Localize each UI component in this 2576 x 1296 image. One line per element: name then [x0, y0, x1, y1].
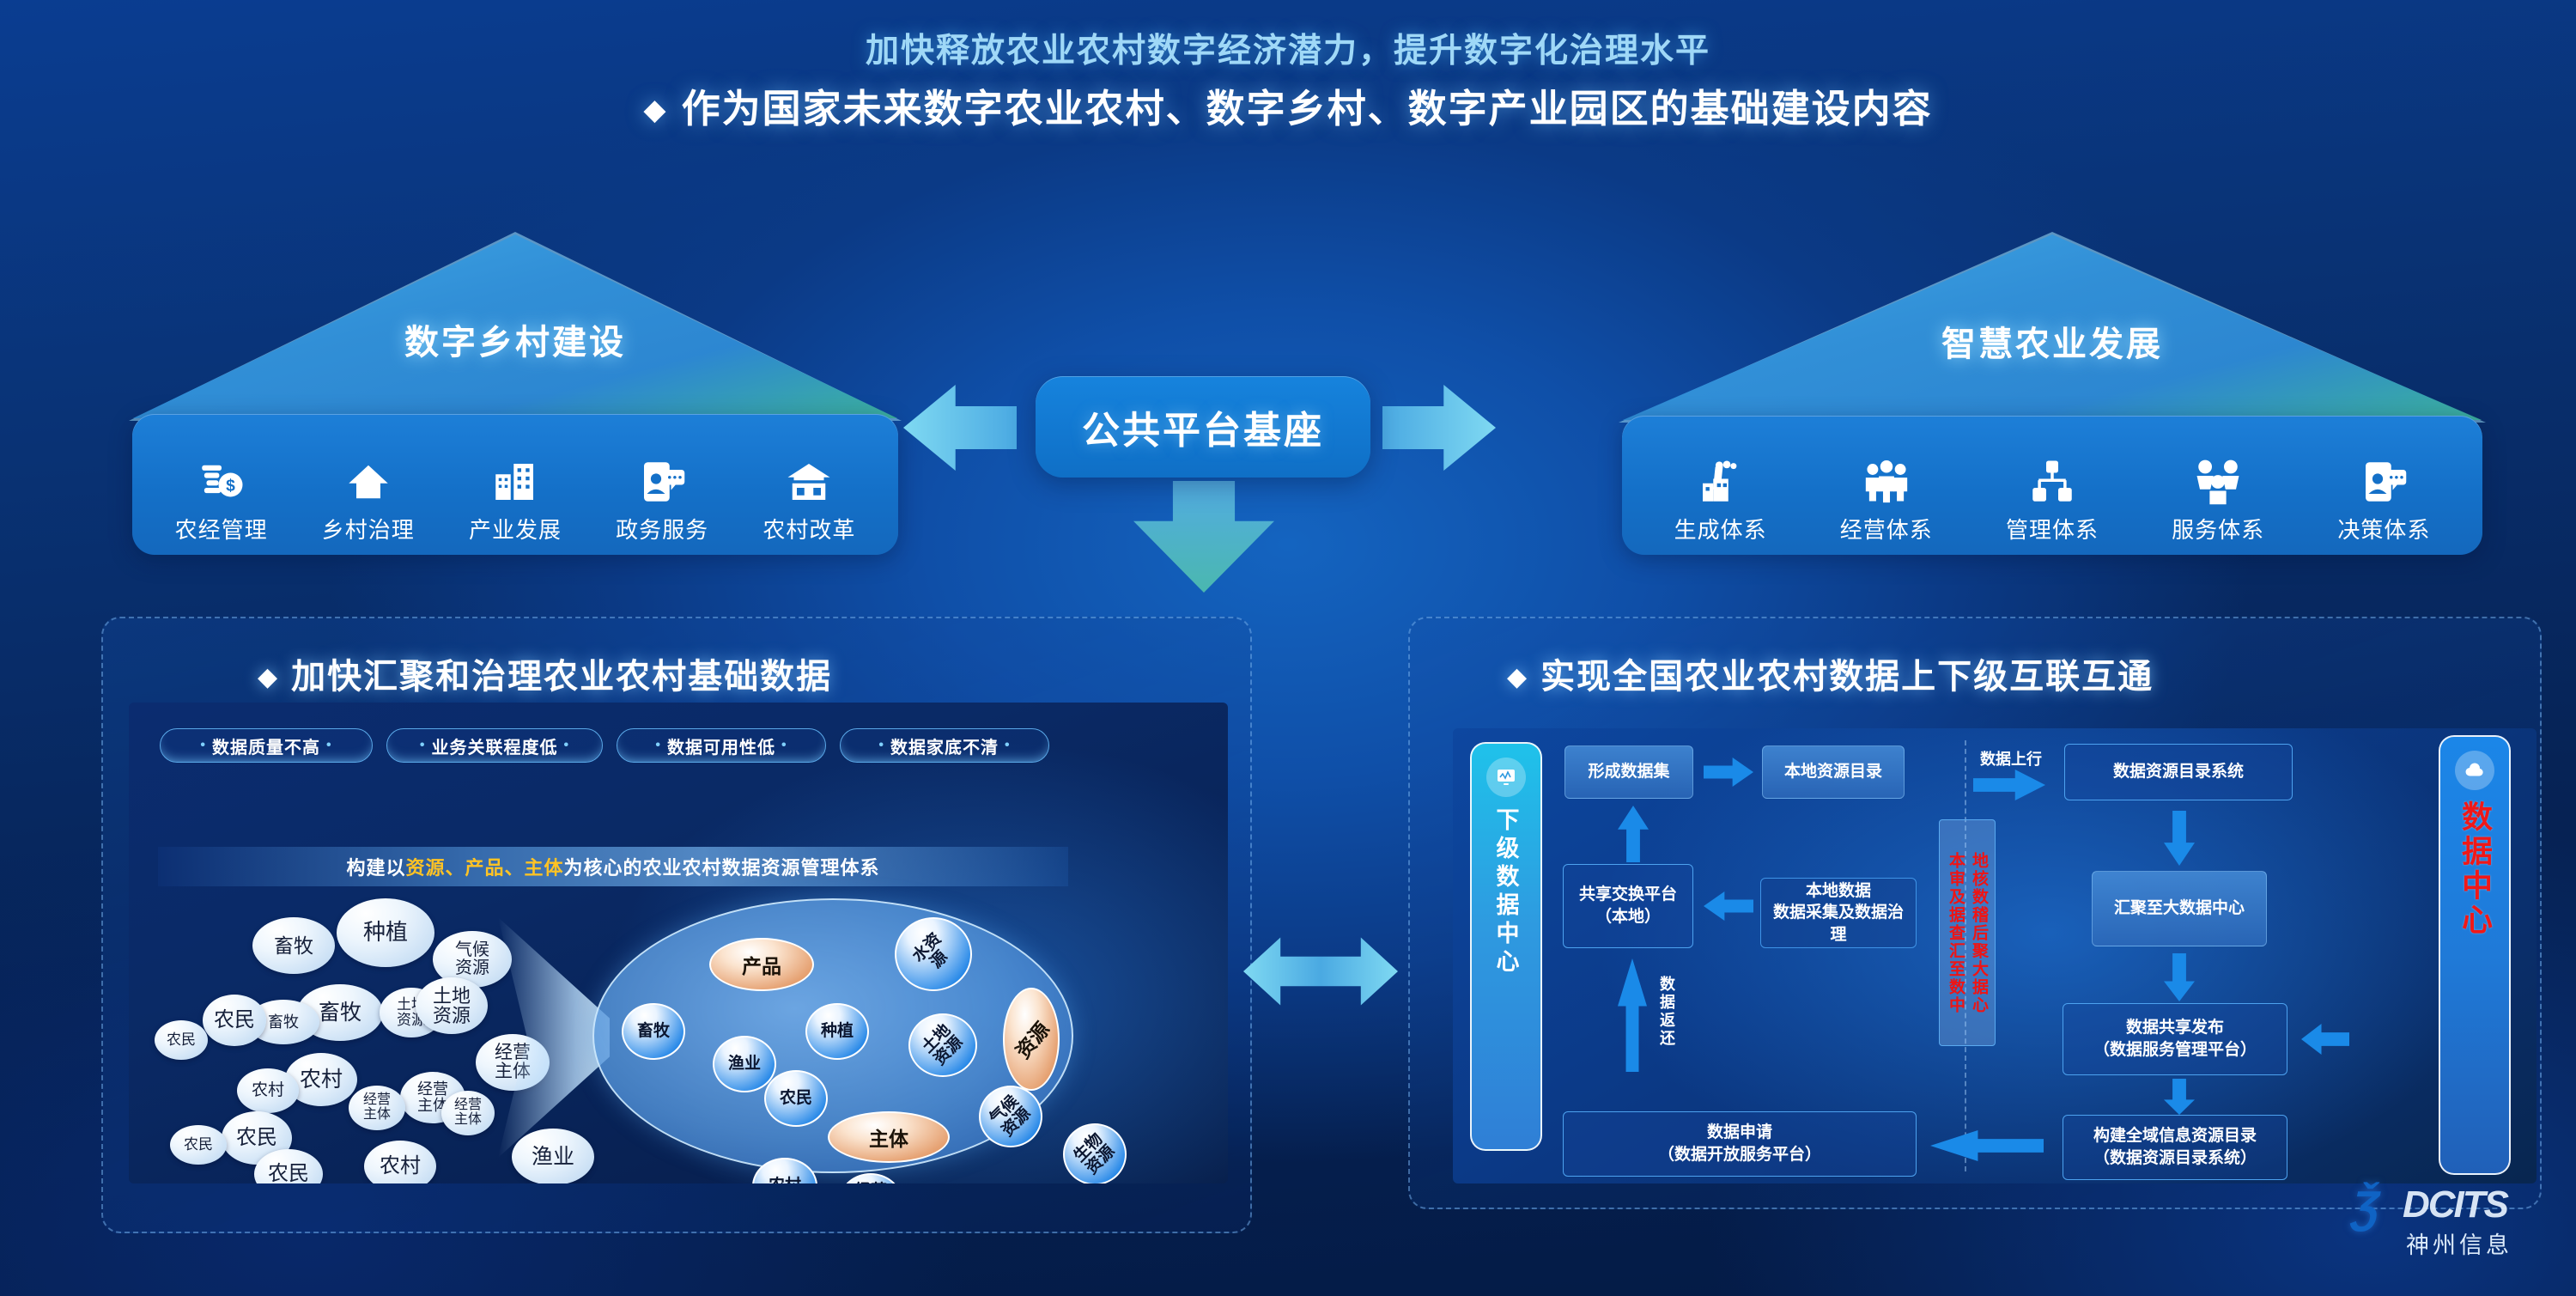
bidirectional-arrow-icon [1243, 934, 1398, 1008]
factory-icon [1658, 449, 1783, 506]
barn-icon [746, 449, 872, 506]
right-item-label-0: 生成体系 [1658, 513, 1783, 545]
pill-dot-icon: • [655, 738, 661, 753]
diamond-bullet-icon: ◆ [258, 663, 279, 691]
issue-pill-label-1: 业务关联程度低 [432, 733, 558, 758]
right-item-2[interactable]: 管理体系 [1990, 449, 2115, 545]
box-aggregate-bigdata-center[interactable]: 汇聚至大数据中心 [2092, 871, 2267, 946]
right-flowchart: 下级数据中心 数据中心 形成数据集 本地资源目录 数据上行 数据资源目录系统 共… [1453, 728, 2537, 1183]
monitor-chart-icon [1486, 758, 1526, 797]
platform-base-card[interactable]: 公共平台基座 [1036, 376, 1370, 478]
diamond-bullet-icon: ◆ [1507, 663, 1528, 691]
left-item-label-3: 政务服务 [599, 513, 725, 545]
logo-chinese-name: 神州信息 [2406, 1226, 2512, 1260]
right-item-1[interactable]: 经营体系 [1824, 449, 1949, 545]
box-local-data-collection[interactable]: 本地数据 数据采集及数据治理 [1760, 878, 1917, 948]
left-house-title: 数字乡村建设 [129, 314, 902, 364]
messy-node: 农民 [155, 1020, 208, 1060]
box-resource-catalog-system[interactable]: 数据资源目录系统 [2064, 744, 2293, 800]
messy-node: 土地资源 [416, 977, 488, 1034]
red-note-box: 地核数稽后聚大据心 本审及据查汇至数中 [1939, 819, 1996, 1046]
bottom-left-heading-text: 加快汇聚和治理农业农村基础数据 [291, 658, 832, 696]
pill-dot-icon: • [878, 738, 884, 753]
left-item-0[interactable]: $ 农经管理 [159, 449, 284, 545]
arrow-left-icon [1704, 891, 1753, 921]
right-item-label-1: 经营体系 [1824, 513, 1949, 545]
left-item-label-0: 农经管理 [159, 513, 284, 545]
page-subtitle: ◆作为国家未来数字农业农村、数字乡村、数字产业园区的基础建设内容 [0, 77, 2576, 133]
right-house-group: 智慧农业发展 生成体系 经营体系 管理体系 服务体系 决策体系 [1619, 232, 2486, 575]
right-item-label-3: 服务体系 [2155, 513, 2281, 545]
issue-pill-1[interactable]: •业务关联程度低• [386, 728, 603, 763]
buildings-icon [453, 449, 578, 506]
arrow-right-icon [1973, 770, 2045, 800]
sidebar-data-center-label: 数据中心 [2452, 800, 2497, 938]
category-node: 经营主体 [840, 1173, 902, 1183]
category-node: 畜牧 [622, 1003, 685, 1060]
brand-logo: Ǯ DCITS 神州信息 [2353, 1178, 2550, 1273]
messy-node: 经营主体 [441, 1091, 495, 1135]
pill-dot-icon: • [326, 738, 332, 753]
diamond-bullet-icon: ◆ [643, 94, 667, 126]
right-house-base: 生成体系 经营体系 管理体系 服务体系 决策体系 [1622, 416, 2482, 555]
node-label: 资源 [1007, 1014, 1055, 1063]
right-item-label-4: 决策体系 [2321, 513, 2446, 545]
pill-dot-icon: • [420, 738, 426, 753]
mobile-service-icon [599, 449, 725, 506]
category-node: 土地资源 [908, 1013, 977, 1077]
left-item-2[interactable]: 产业发展 [453, 449, 578, 545]
messy-node: 畜牧 [252, 917, 335, 974]
category-node: 种植 [805, 1003, 869, 1060]
node-label: 水资源 [909, 930, 957, 977]
right-house-title: 智慧农业发展 [1619, 316, 2486, 366]
bottom-right-heading-text: 实现全国农业农村数据上下级互联互通 [1540, 658, 2154, 696]
node-label: 畜牧 [637, 1023, 670, 1040]
box-share-exchange-platform[interactable]: 共享交换平台 （本地） [1563, 864, 1693, 948]
messy-node: 农民 [170, 1125, 227, 1165]
core-node: 资源 [1003, 988, 1060, 1091]
issue-pill-label-3: 数据家底不清 [890, 733, 999, 758]
arrow-left-icon [1930, 1130, 2044, 1161]
core-banner-post: 为核心的农业农村数据资源管理体系 [564, 853, 880, 880]
arrow-left-icon [2301, 1024, 2349, 1055]
node-label: 经营主体 [854, 1183, 887, 1183]
messy-node: 农民 [203, 995, 266, 1046]
node-label: 渔业 [728, 1056, 761, 1073]
core-node: 产品 [709, 938, 814, 991]
arrow-down-icon [2164, 811, 2195, 866]
issue-pill-label-2: 数据可用性低 [667, 733, 775, 758]
node-label: 农民 [780, 1090, 812, 1107]
box-form-dataset[interactable]: 形成数据集 [1564, 745, 1693, 799]
arrow-down-icon [1133, 481, 1274, 593]
messy-node: 农村 [364, 1141, 436, 1183]
pill-dot-icon: • [564, 738, 570, 753]
right-item-3[interactable]: 服务体系 [2155, 449, 2281, 545]
svg-text:$: $ [226, 478, 235, 496]
node-label: 生物资源 [1071, 1130, 1118, 1177]
left-item-label-1: 乡村治理 [306, 513, 431, 545]
sidebar-lower-label: 下级数据中心 [1490, 807, 1523, 977]
cloud-icon [2455, 751, 2494, 790]
issue-pill-2[interactable]: •数据可用性低• [617, 728, 826, 763]
node-label: 土地资源 [919, 1021, 966, 1068]
node-label: 种植 [821, 1023, 854, 1040]
box-build-global-catalog[interactable]: 构建全域信息资源目录 （数据资源目录系统） [2063, 1115, 2287, 1180]
core-banner-pre: 构建以 [346, 853, 405, 880]
messy-node: 经营主体 [349, 1086, 405, 1130]
node-label: 主体 [869, 1123, 908, 1152]
arrow-down-icon [2164, 1079, 2195, 1115]
core-banner-hi1: 资源、 [405, 853, 465, 880]
left-house-group: 数字乡村建设 $ 农经管理 乡村治理 产业发展 政务服务 农村改革 [129, 232, 902, 575]
core-banner-hi3: 主体 [525, 853, 564, 880]
messy-node: 农村 [237, 1068, 299, 1113]
red-note-col2: 本审及据查汇至数中 [1944, 852, 1967, 1014]
money-stack-icon: $ [159, 449, 284, 506]
category-node: 农民 [764, 1070, 828, 1127]
category-node: 生物资源 [1063, 1123, 1127, 1183]
left-item-label-2: 产业发展 [453, 513, 578, 545]
category-node: 气候资源 [979, 1086, 1042, 1147]
people-group-icon [1824, 449, 1949, 506]
arrow-right-icon [1704, 758, 1753, 787]
uplink-label: 数据上行 [1980, 747, 2042, 770]
sidebar-data-center[interactable]: 数据中心 [2439, 735, 2511, 1175]
mobile-service-icon [2321, 449, 2446, 506]
core-node: 主体 [828, 1111, 950, 1163]
logo-wordmark: DCITS [2403, 1183, 2507, 1226]
bottom-right-heading: ◆实现全国农业农村数据上下级互联互通 [1507, 648, 2154, 698]
people-service-icon [2155, 449, 2281, 506]
left-item-4[interactable]: 农村改革 [746, 449, 872, 545]
page-subtitle-text: 作为国家未来数字农业农村、数字乡村、数字产业园区的基础建设内容 [682, 87, 1933, 131]
core-banner-hi2: 产品、 [465, 853, 524, 880]
right-item-4[interactable]: 决策体系 [2321, 449, 2446, 545]
node-label: 产品 [742, 950, 781, 979]
house-icon [306, 449, 431, 506]
page-title: 加快释放农业农村数字经济潜力，提升数字化治理水平 [0, 24, 2576, 72]
arrow-up-icon [1618, 806, 1649, 862]
messy-node: 种植 [337, 898, 434, 967]
box-data-share-publish[interactable]: 数据共享发布 （数据服务管理平台） [2063, 1003, 2287, 1075]
arrow-left-icon [903, 385, 1017, 471]
box-data-application[interactable]: 数据申请 （数据开放服务平台） [1563, 1111, 1917, 1177]
organized-node-cloud: 产品水资源资源畜牧种植土地资源渔业农民气候资源主体生物资源农村经营主体 [592, 898, 1091, 1183]
pill-dot-icon: • [781, 738, 787, 753]
left-item-1[interactable]: 乡村治理 [306, 449, 431, 545]
org-chart-icon [1990, 449, 2115, 506]
messy-node: 渔业 [512, 1129, 594, 1183]
left-item-3[interactable]: 政务服务 [599, 449, 725, 545]
node-label: 农村 [769, 1177, 801, 1183]
category-node: 水资源 [895, 917, 972, 991]
left-house-base: $ 农经管理 乡村治理 产业发展 政务服务 农村改革 [132, 414, 898, 555]
arrow-down-icon [2164, 953, 2195, 1001]
pill-dot-icon: • [1005, 738, 1011, 753]
category-node: 农村 [752, 1158, 817, 1183]
box-share-exchange-line1: 共享交换平台 （本地） [1579, 884, 1677, 928]
right-item-0[interactable]: 生成体系 [1658, 449, 1783, 545]
bottom-left-heading: ◆加快汇聚和治理农业农村基础数据 [258, 648, 832, 698]
right-item-label-2: 管理体系 [1990, 513, 2115, 545]
issue-pill-3[interactable]: •数据家底不清• [840, 728, 1049, 763]
logo-mark-icon: Ǯ [2348, 1182, 2386, 1233]
core-banner: 构建以资源、产品、主体为核心的农业农村数据资源管理体系 [158, 847, 1068, 886]
category-node: 渔业 [713, 1036, 776, 1092]
left-diagram: •数据质量不高• •业务关联程度低• •数据可用性低• •数据家底不清• 构建以… [129, 703, 1228, 1183]
sidebar-lower-data-center[interactable]: 下级数据中心 [1470, 742, 1542, 1151]
red-note-col1: 地核数稽后聚大据心 [1967, 852, 1990, 1014]
issue-pill-label-0: 数据质量不高 [212, 733, 320, 758]
arrow-right-icon [1382, 385, 1496, 471]
arrow-up-icon [1618, 958, 1647, 1072]
pill-dot-icon: • [200, 738, 206, 753]
data-return-label: 数据返还 [1656, 976, 1678, 1048]
box-local-catalog[interactable]: 本地资源目录 [1762, 745, 1905, 799]
left-item-label-4: 农村改革 [746, 513, 872, 545]
node-label: 气候资源 [987, 1092, 1034, 1140]
issue-pill-0[interactable]: •数据质量不高• [160, 728, 373, 763]
